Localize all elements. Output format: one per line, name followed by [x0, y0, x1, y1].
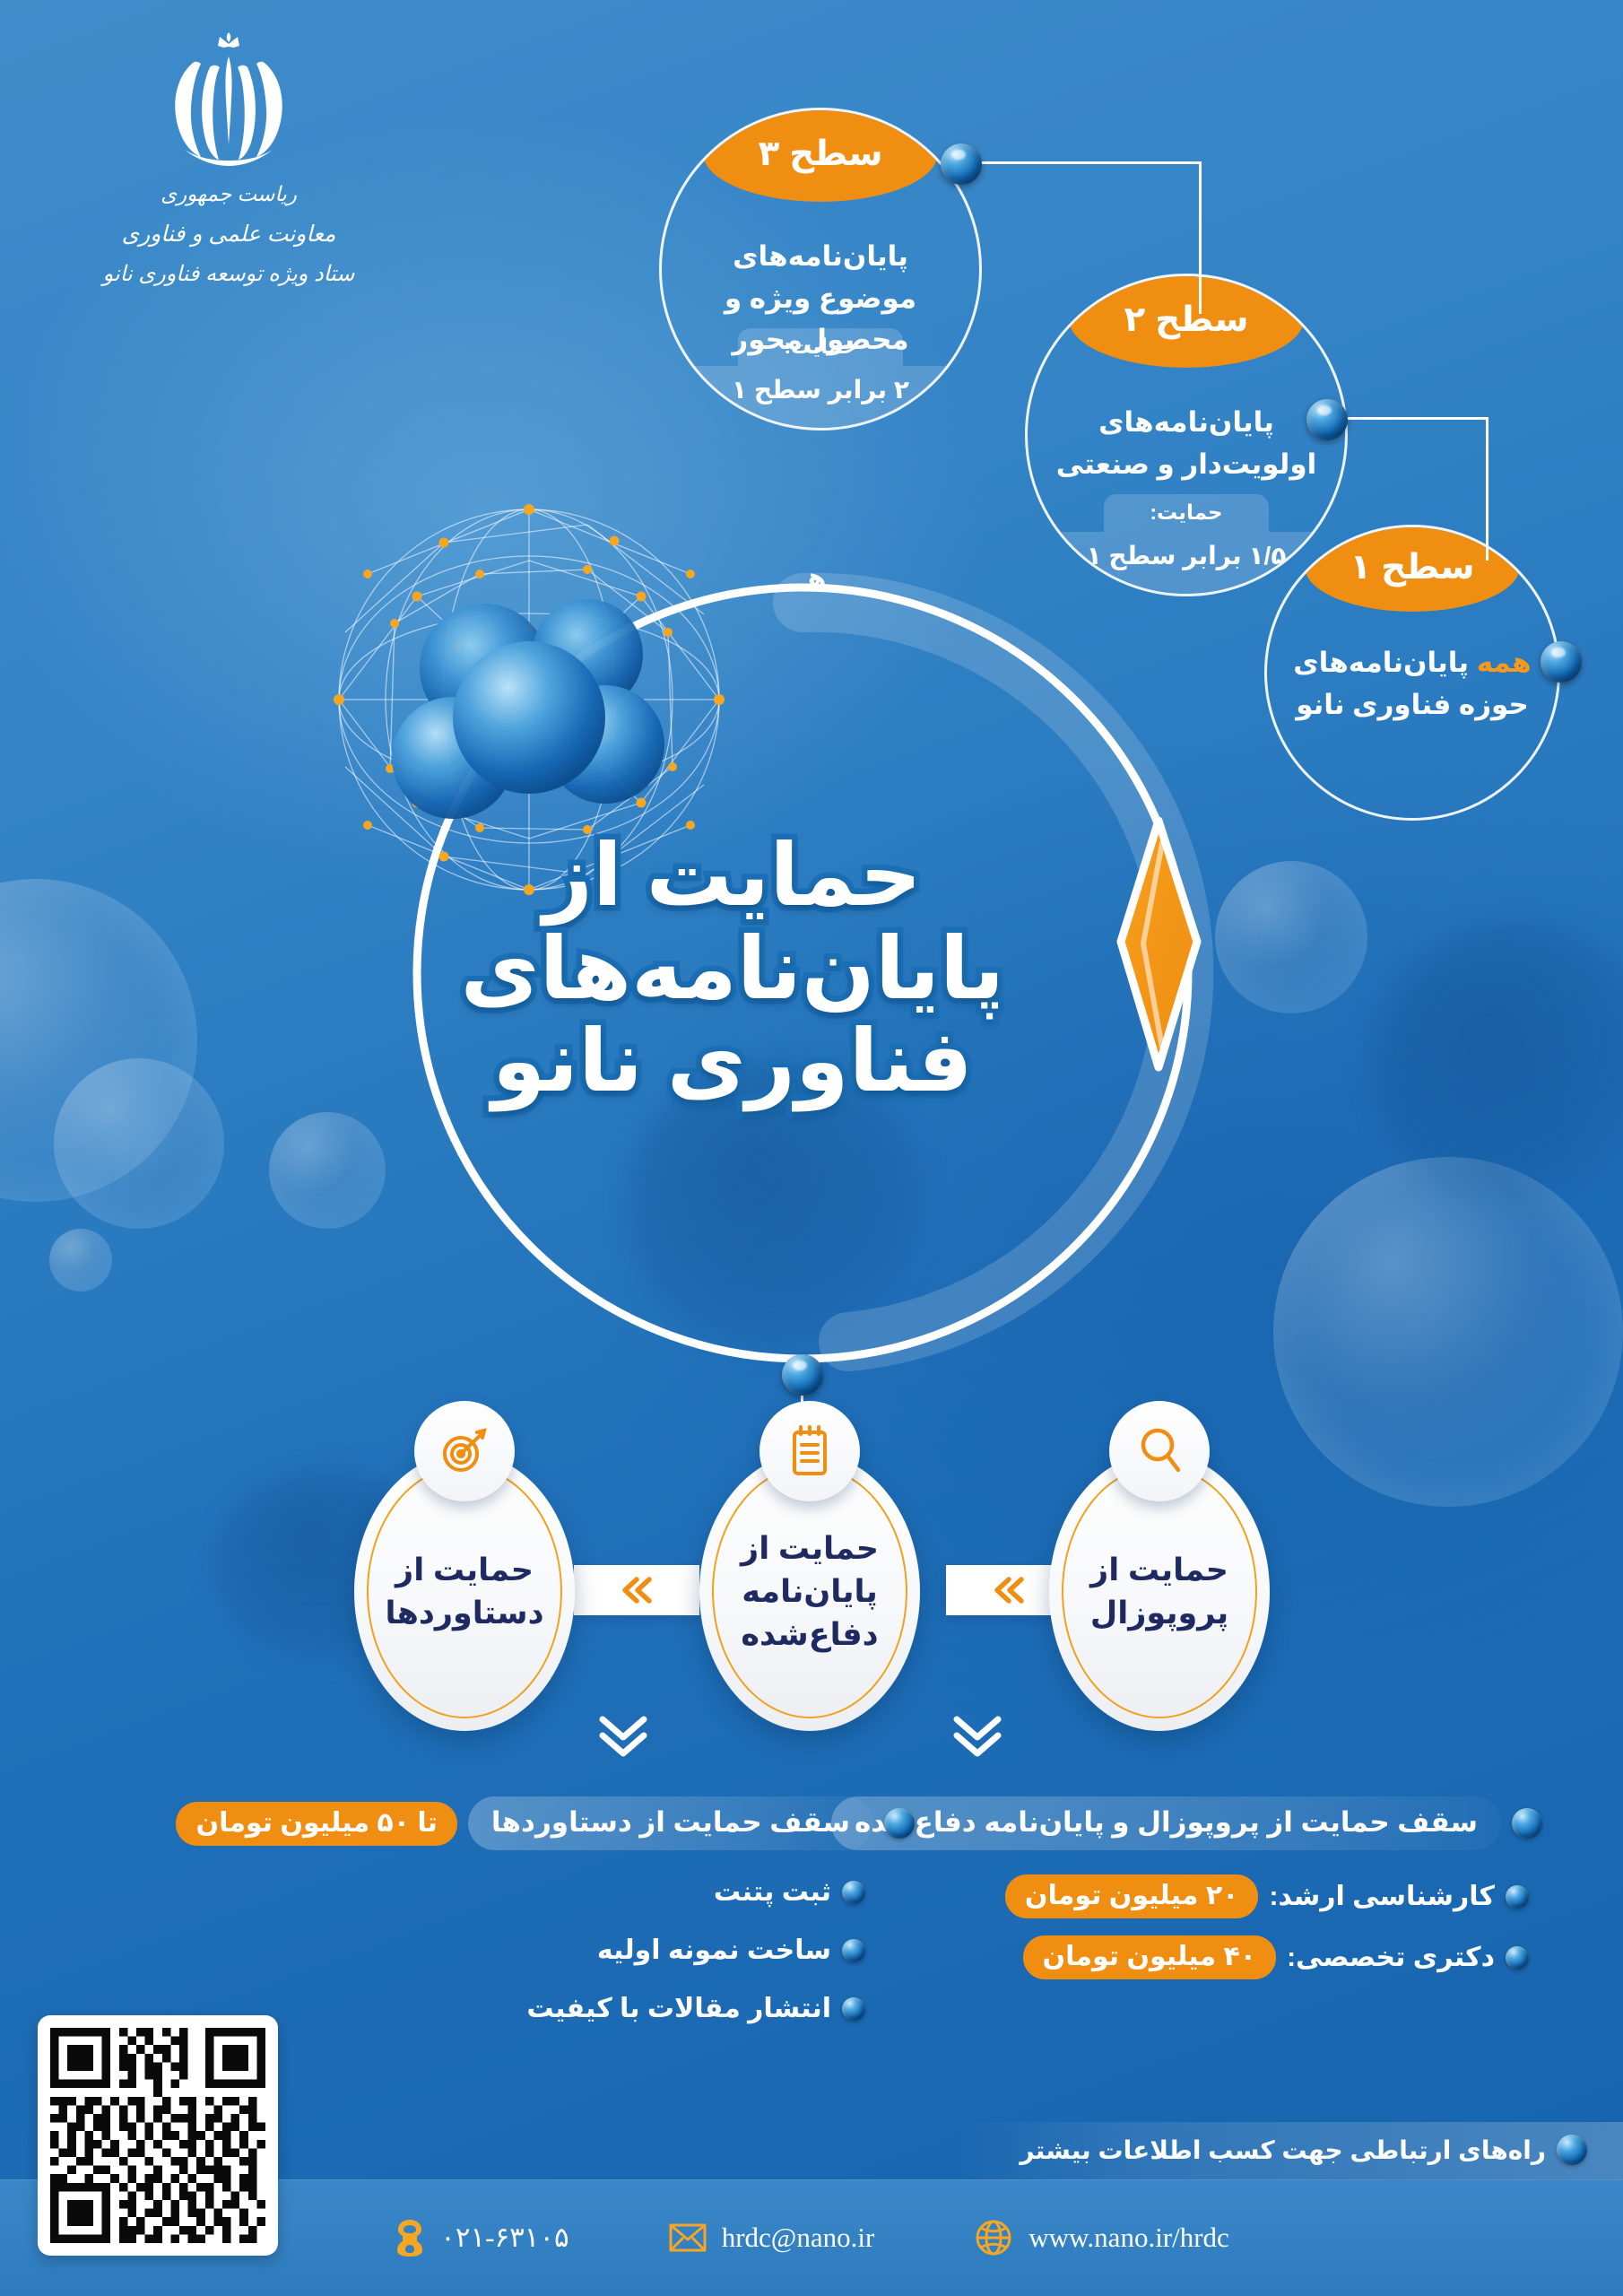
- bullet-sphere-icon: [884, 1808, 915, 1839]
- proposal-cap-masters-amount: ۲۰ میلیون تومان: [1005, 1874, 1259, 1918]
- envelope-icon: [668, 2222, 707, 2254]
- footer-heading-row: راه‌های ارتباطی جهت کسب اطلاعات بیشتر: [957, 2122, 1623, 2179]
- level-3-support: حمایت: ۲ برابر سطح ۱: [662, 328, 979, 428]
- level-1-body: همه پایان‌نامه‌های حوزه فناوری نانو: [1288, 642, 1538, 726]
- step-support-proposal[interactable]: حمایت از پروپوزال: [1049, 1453, 1270, 1731]
- proposal-cap-row-phd: دکتری تخصصی: ۴۰ میلیون تومان: [1023, 1935, 1529, 1979]
- bullet-sphere-icon: [842, 1997, 865, 2021]
- down-chevron-left-icon: [592, 1709, 655, 1761]
- contact-email-text: hrdc@nano.ir: [722, 2222, 875, 2254]
- qr-code-icon: [50, 2028, 265, 2243]
- contact-website[interactable]: www.nano.ir/hrdc: [973, 2217, 1229, 2258]
- organization-logo: ریاست جمهوری معاونت علمی و فناوری ستاد و…: [85, 31, 372, 294]
- step-proposal-badge: [1109, 1401, 1210, 1501]
- bubble-decor: [49, 1229, 112, 1291]
- achievements-cap-heading-row: سقف حمایت از دستاوردها تا ۵۰ میلیون توما…: [176, 1796, 915, 1850]
- step-achievements-label: حمایت از دستاوردها: [377, 1549, 553, 1636]
- magnifier-icon: [1134, 1425, 1185, 1477]
- title-line-1: حمایت از: [461, 830, 1004, 923]
- step-link-bar-left: [574, 1565, 699, 1615]
- step-support-achievements[interactable]: حمایت از دستاوردها: [354, 1453, 575, 1731]
- achievements-item-label: ساخت نمونه اولیه: [597, 1935, 831, 1966]
- level-3-circle[interactable]: سطح ۳ پایان‌نامه‌های موضوع ویژه و محصول‌…: [659, 108, 982, 430]
- proposal-cap-phd-amount: ۴۰ میلیون تومان: [1023, 1935, 1277, 1979]
- bubble-decor: [54, 1058, 224, 1229]
- bubble-decor: [1372, 924, 1623, 1211]
- down-chevron-right-icon: [946, 1709, 1009, 1761]
- level-2-support-label: حمایت:: [1104, 494, 1269, 532]
- step-support-defended-thesis[interactable]: حمایت از پایان‌نامه دفاع‌شده: [699, 1453, 920, 1731]
- bullet-sphere-icon: [1557, 2135, 1587, 2165]
- step-achievements-badge: [414, 1401, 515, 1501]
- level-1-node: [1541, 641, 1582, 683]
- contact-website-text: www.nano.ir/hrdc: [1028, 2222, 1229, 2254]
- connector-level2-to-level1: [1336, 417, 1488, 561]
- step-proposal-label: حمایت از پروپوزال: [1072, 1549, 1248, 1636]
- bullet-sphere-icon: [842, 1881, 865, 1904]
- logo-line-3: ستاد ویژه توسعه فناوری نانو: [85, 255, 372, 294]
- double-chevron-left-icon: [989, 1575, 1028, 1605]
- achievements-cap-heading: سقف حمایت از دستاوردها: [468, 1796, 873, 1850]
- level-3-badge: سطح ۳: [703, 108, 938, 202]
- connector-level3-to-level2: [977, 161, 1202, 314]
- step-defended-badge: [759, 1401, 860, 1501]
- poster-title: حمایت از پایان‌نامه‌های فناوری نانو: [461, 830, 1004, 1109]
- proposal-cap-heading: سقف حمایت از پروپوزال و پایان‌نامه دفاع‌…: [831, 1796, 1501, 1850]
- level-2-body: پایان‌نامه‌های اولویت‌دار و صنعتی: [1050, 402, 1323, 485]
- proposal-cap-phd-label: دکتری تخصصی:: [1287, 1942, 1495, 1973]
- target-dart-icon: [438, 1425, 491, 1477]
- bullet-sphere-icon: [1506, 1946, 1529, 1970]
- achievements-item-patent: ثبت پتنت: [714, 1876, 865, 1908]
- level-2-circle[interactable]: سطح ۲ پایان‌نامه‌های اولویت‌دار و صنعتی …: [1025, 274, 1348, 596]
- level-3-support-value: ۲ برابر سطح ۱: [662, 366, 979, 428]
- double-chevron-left-icon: [617, 1575, 656, 1605]
- poster-canvas: ریاست جمهوری معاونت علمی و فناوری ستاد و…: [0, 0, 1623, 2296]
- achievements-item-label: انتشار مقالات با کیفیت: [526, 1993, 831, 2024]
- title-line-2: پایان‌نامه‌های: [461, 923, 1004, 1016]
- bubble-decor: [1215, 861, 1367, 1013]
- level-2-node: [1306, 399, 1348, 440]
- bullet-sphere-icon: [1512, 1808, 1542, 1839]
- level-1-circle[interactable]: سطح ۱ همه پایان‌نامه‌های حوزه فناوری نان…: [1264, 525, 1560, 821]
- level-3-node: [941, 143, 982, 185]
- bubble-decor: [269, 1112, 386, 1229]
- notepad-icon: [786, 1423, 833, 1479]
- level-3-badge-label: سطح ۳: [758, 134, 882, 174]
- proposal-cap-heading-row: سقف حمایت از پروپوزال و پایان‌نامه دفاع‌…: [831, 1796, 1542, 1850]
- level-1-body-highlight: همه: [1477, 647, 1532, 678]
- proposal-cap-masters-label: کارشناسی ارشد:: [1269, 1881, 1495, 1912]
- bubble-decor: [1273, 1157, 1623, 1507]
- level-3-support-label: حمایت:: [738, 328, 903, 366]
- step-defended-label: حمایت از پایان‌نامه دفاع‌شده: [722, 1527, 898, 1657]
- achievements-item-prototype: ساخت نمونه اولیه: [597, 1935, 865, 1966]
- achievements-cap-amount: تا ۵۰ میلیون تومان: [176, 1802, 456, 1846]
- logo-line-1: ریاست جمهوری: [85, 175, 372, 213]
- contact-phone[interactable]: ۰۲۱-۶۳۱۰۵: [394, 2217, 569, 2258]
- telephone-icon: [394, 2217, 426, 2258]
- ring-bottom-node: [782, 1354, 823, 1396]
- title-line-3: فناوری نانو: [461, 1015, 1004, 1109]
- contact-phone-text: ۰۲۱-۶۳۱۰۵: [440, 2222, 569, 2254]
- achievements-item-label: ثبت پتنت: [714, 1876, 831, 1908]
- bullet-sphere-icon: [1506, 1885, 1529, 1909]
- globe-icon: [973, 2217, 1014, 2258]
- footer-heading: راه‌های ارتباطی جهت کسب اطلاعات بیشتر: [1020, 2135, 1546, 2165]
- bubble-decor: [0, 879, 197, 1202]
- qr-code[interactable]: [38, 2015, 278, 2256]
- bullet-sphere-icon: [842, 1939, 865, 1962]
- logo-line-2: معاونت علمی و فناوری: [85, 213, 372, 255]
- proposal-cap-row-masters: کارشناسی ارشد: ۲۰ میلیون تومان: [1005, 1874, 1529, 1918]
- iran-emblem-icon: [135, 31, 323, 175]
- achievements-item-articles: انتشار مقالات با کیفیت: [526, 1993, 865, 2024]
- contact-email[interactable]: hrdc@nano.ir: [668, 2217, 875, 2258]
